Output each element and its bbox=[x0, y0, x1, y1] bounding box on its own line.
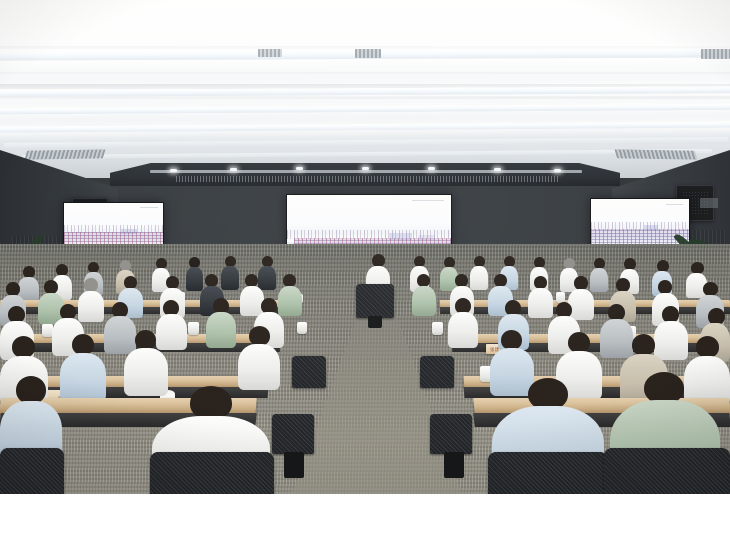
wall-sign-right bbox=[700, 198, 718, 208]
tea-cup bbox=[297, 322, 307, 334]
ceiling-downlight bbox=[428, 167, 435, 170]
ceiling-downlight bbox=[230, 168, 237, 171]
chair bbox=[420, 356, 454, 388]
ceiling-downlight bbox=[170, 169, 177, 172]
ceiling-air-grille bbox=[701, 49, 730, 59]
soffit-vent bbox=[176, 176, 560, 182]
display-main-logo bbox=[412, 200, 445, 206]
soffit-trim bbox=[150, 170, 582, 173]
ceiling-downlight bbox=[494, 168, 501, 171]
ceiling-air-grille bbox=[24, 149, 105, 159]
ceiling-light-strip bbox=[4, 137, 728, 148]
ceiling-downlight bbox=[362, 167, 369, 170]
ceiling-downlight bbox=[554, 169, 561, 172]
ceiling-air-grille bbox=[355, 49, 381, 58]
chair-base bbox=[368, 316, 382, 328]
ceiling-light-strip bbox=[0, 104, 730, 115]
ceiling-downlight bbox=[296, 167, 303, 170]
chair bbox=[430, 414, 472, 454]
tea-cup bbox=[432, 322, 443, 335]
chair bbox=[356, 284, 394, 318]
chair bbox=[0, 448, 64, 494]
ceiling-air-grille bbox=[614, 149, 697, 159]
ceiling bbox=[0, 0, 730, 178]
chair bbox=[604, 448, 730, 494]
chair-base bbox=[444, 452, 464, 478]
ceiling-air-grille bbox=[258, 49, 282, 57]
conference-room-photo: 张建安 bbox=[0, 0, 730, 494]
ceiling-light-strip bbox=[22, 149, 712, 159]
chair bbox=[488, 452, 608, 494]
ceiling-light-strip bbox=[0, 121, 730, 132]
tea-cup bbox=[188, 322, 199, 335]
chair-base bbox=[284, 452, 304, 478]
bottom-white-band bbox=[0, 494, 730, 548]
chair bbox=[292, 356, 326, 388]
chair bbox=[150, 452, 274, 494]
screenshot-root: 张建安 bbox=[0, 0, 730, 548]
chair bbox=[272, 414, 314, 454]
